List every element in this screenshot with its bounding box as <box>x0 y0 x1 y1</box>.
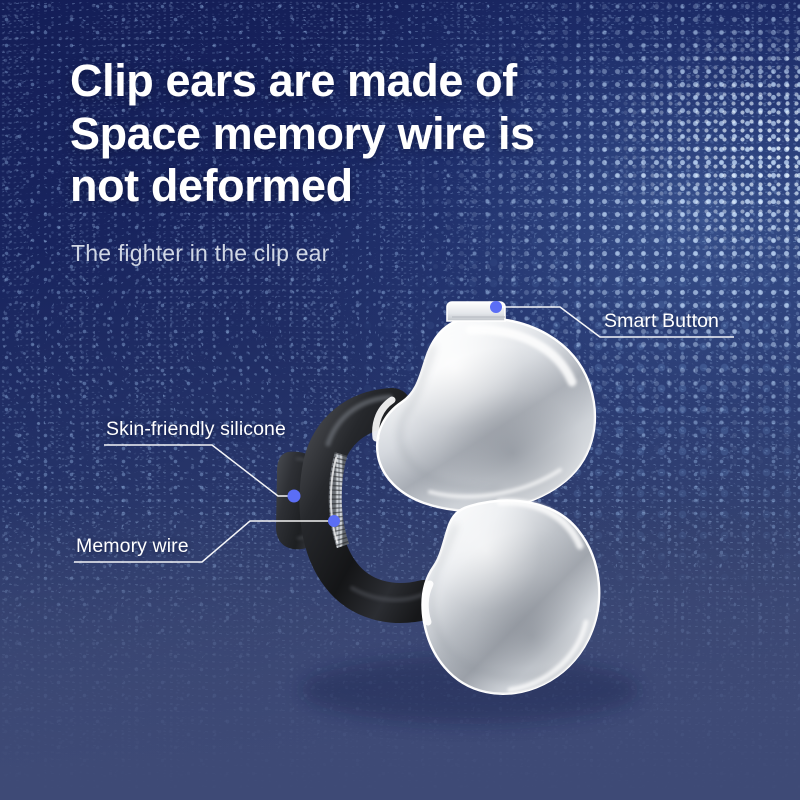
subtitle: The fighter in the clip ear <box>71 240 330 267</box>
lower-ear-shell <box>422 501 599 694</box>
marker-dot-skin-friendly-silicone <box>288 490 301 503</box>
leader-line-skin-friendly-silicone <box>104 445 294 496</box>
memory-wire-strip <box>335 454 343 546</box>
marker-dot-smart-button <box>490 301 502 313</box>
product-shadow <box>300 656 640 724</box>
headline: Clip ears are made of Space memory wire … <box>70 55 630 213</box>
callout-label-skin-friendly-silicone: Skin-friendly silicone <box>106 418 286 441</box>
callout-label-smart-button: Smart Button <box>604 310 719 333</box>
promo-banner: Clip ears are made of Space memory wire … <box>0 0 800 800</box>
smart-button[interactable] <box>447 302 505 321</box>
marker-dot-memory-wire <box>328 515 340 527</box>
callout-label-memory-wire: Memory wire <box>76 535 189 558</box>
callout-marker-dots <box>288 301 503 527</box>
memory-wire-bridge <box>319 397 424 603</box>
silicone-pad <box>276 452 320 550</box>
upper-ear-shell <box>376 318 595 511</box>
